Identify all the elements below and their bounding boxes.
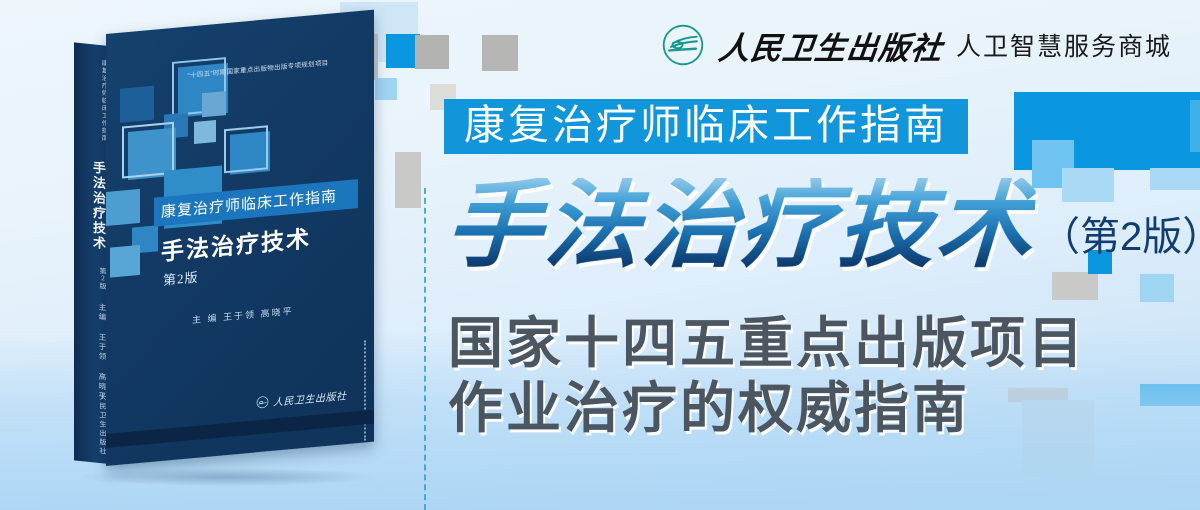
book-shadow — [82, 468, 372, 486]
spine-title: 手法治疗技术 — [74, 158, 108, 252]
tagline-national-project: 国家十四五重点出版项目 — [448, 316, 1086, 371]
cover-square — [224, 125, 268, 173]
book-spine: 康复治疗师临床工作指南 手法治疗技术 第2版 主编 王于领 高晓平 人民卫生出版… — [74, 42, 109, 464]
book-mockup: 康复治疗师临床工作指南 手法治疗技术 第2版 主编 王于领 高晓平 人民卫生出版… — [60, 30, 390, 480]
renwei-circular-emblem-icon — [660, 22, 706, 68]
cover-publisher-name: 人民卫生出版社 — [273, 387, 347, 409]
cover-edition: 第2版 — [163, 267, 199, 289]
promo-banner: 人民卫生出版社 人卫智慧服务商城 康复治疗师临床工作指南 手法治疗技术 （第2版… — [0, 0, 1200, 510]
series-band-label: 康复治疗师临床工作指南 — [464, 102, 948, 148]
decoration-square — [415, 35, 449, 69]
decoration-square — [482, 35, 518, 71]
renwei-emblem-icon — [256, 395, 269, 409]
tagline-authoritative-guide: 作业治疗的权威指南 — [448, 381, 970, 436]
cover-authors: 主 编 王于领 高晓平 — [192, 304, 294, 326]
cover-square — [110, 245, 140, 278]
book-front-cover: “十四五”时期国家重点出版物出版专项规划项目 康复治疗师临床工作指南 手法治疗技… — [106, 10, 374, 466]
series-band: 康复治疗师临床工作指南 — [444, 99, 968, 154]
cover-square — [106, 189, 140, 226]
main-title-row: 手法治疗技术 （第2版） — [446, 178, 1200, 274]
decoration-square — [1140, 274, 1174, 302]
publisher-subtitle: 人卫智慧服务商城 — [956, 27, 1172, 63]
cover-square — [194, 120, 216, 144]
cover-square — [120, 86, 154, 123]
decoration-square — [1052, 272, 1098, 300]
cover-dotted-rule — [364, 340, 368, 440]
edition-label: （第2版） — [1040, 204, 1200, 262]
spine-series: 康复治疗师临床工作指南 — [74, 56, 108, 142]
page-title: 手法治疗技术 — [443, 178, 1036, 274]
spine-authors: 主编 王于领 高晓平 — [74, 300, 108, 402]
dashed-divider — [424, 188, 426, 510]
decoration-square — [395, 152, 421, 208]
publisher-lockup: 人民卫生出版社 人卫智慧服务商城 — [660, 22, 1172, 68]
decoration-square — [1190, 100, 1200, 152]
spine-publisher: 人民卫生出版社 — [74, 390, 108, 457]
cover-publisher-lockup: 人民卫生出版社 — [256, 387, 347, 410]
spine-edition: 第2版 — [74, 264, 108, 290]
cover-square — [202, 91, 226, 117]
publisher-name: 人民卫生出版社 — [716, 23, 946, 68]
